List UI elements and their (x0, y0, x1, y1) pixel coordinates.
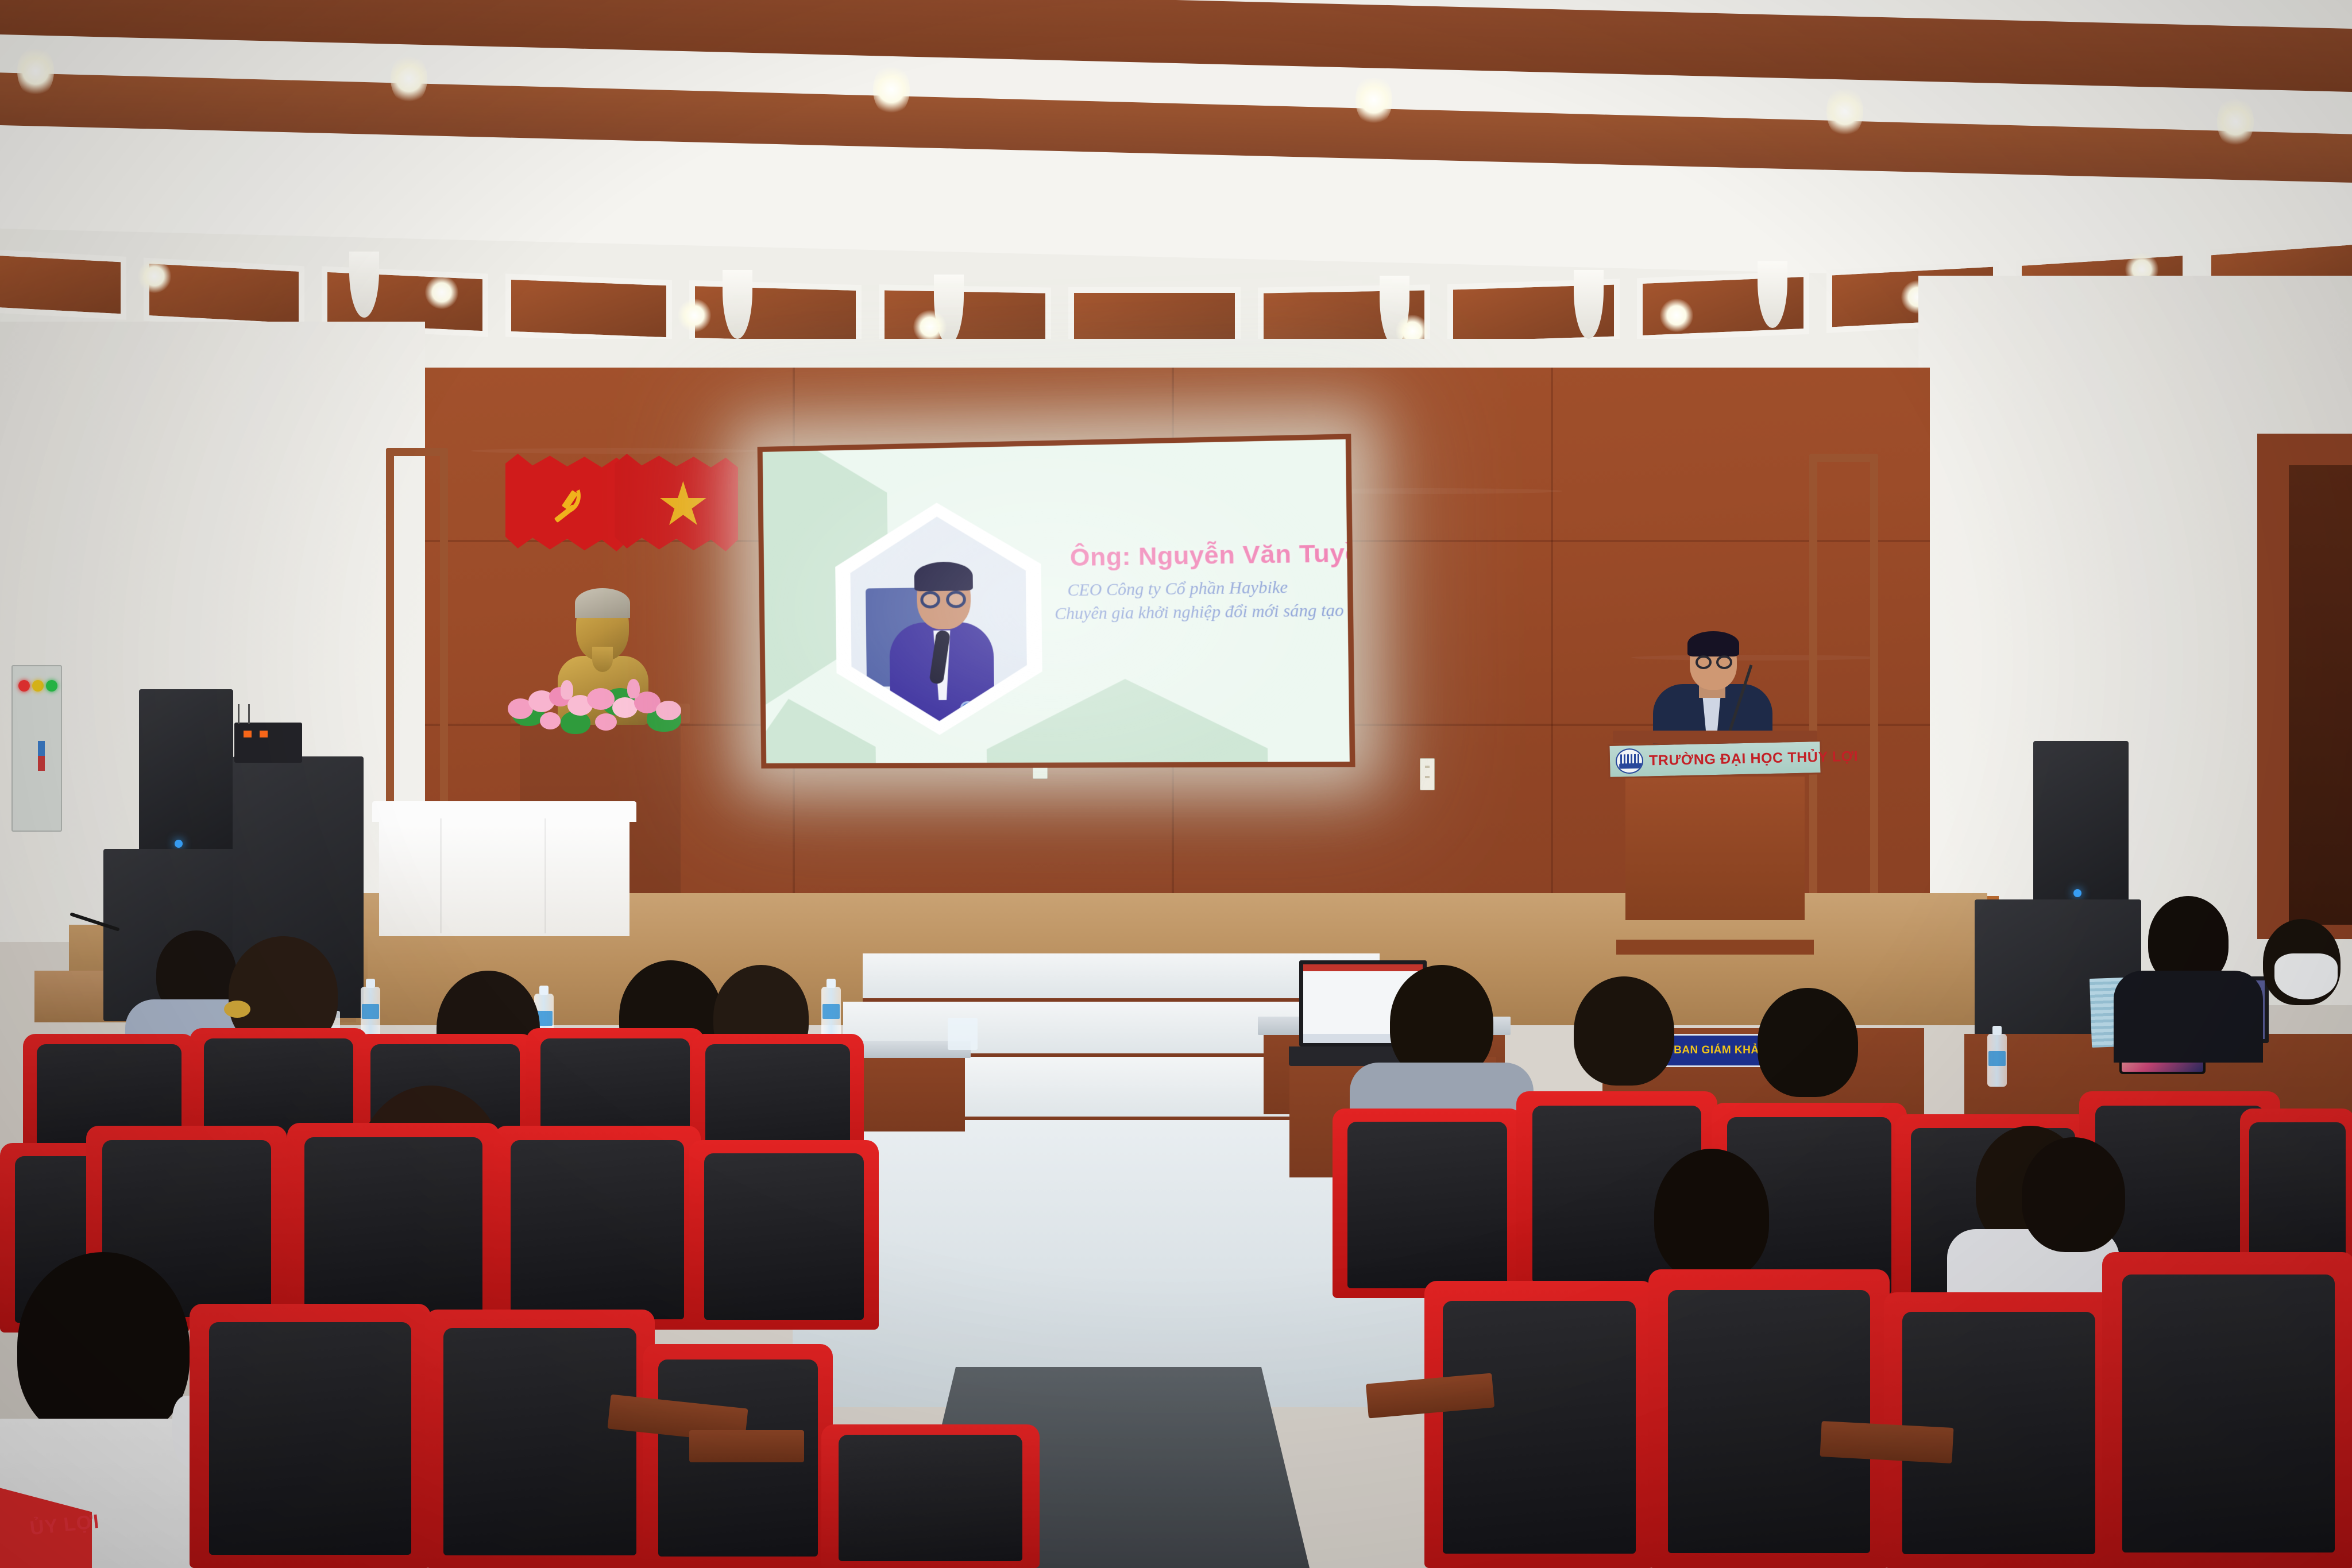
auditorium-seat[interactable] (190, 1304, 431, 1568)
indicator-light-green (46, 680, 57, 692)
presentation-slide: Ông: Nguyễn Văn Tuyền CEO Công ty Cổ phầ… (763, 439, 1350, 763)
university-logo-icon (1616, 748, 1644, 774)
electrical-panel[interactable] (11, 665, 62, 832)
auditorium-seat[interactable] (287, 1123, 500, 1330)
podium: TRƯỜNG ĐẠI HỌC THỦY LỢI (1608, 731, 1821, 955)
pa-speaker-top-right (2033, 741, 2129, 903)
auditorium-seat[interactable] (1648, 1269, 1890, 1568)
audience-head (1574, 976, 1674, 1086)
pa-speaker-top-left (139, 689, 233, 853)
audience-head (1654, 1149, 1769, 1281)
judges-panel-sign-text: BAN GIÁM KHẢO (1674, 1044, 1768, 1057)
auditorium-seat[interactable] (2102, 1252, 2352, 1568)
downlight (1355, 74, 1392, 126)
vietnam-flag (615, 454, 738, 551)
drinking-glass[interactable] (948, 1018, 978, 1050)
audience-head (17, 1252, 190, 1442)
downlight (1826, 85, 1863, 138)
antenna (238, 704, 240, 724)
hammer-sickle-icon (547, 481, 589, 527)
slide-speaker-name: Ông: Nguyễn Văn Tuyền (1070, 539, 1354, 573)
slide-speaker-role-1: CEO Công ty Cổ phần Haybike (1067, 577, 1351, 600)
indicator-light-yellow (32, 680, 44, 692)
audience-shoulders-suit (2114, 971, 2263, 1063)
speaker-power-led (175, 840, 183, 848)
conference-hall-photo: Ông: Nguyễn Văn Tuyền CEO Công ty Cổ phầ… (0, 0, 2352, 1568)
flag-display (505, 454, 752, 580)
mixer-rack (234, 723, 302, 763)
mixer-led (244, 731, 252, 737)
draped-table (372, 801, 636, 936)
audience-head (1758, 988, 1858, 1097)
downlight (17, 45, 54, 98)
indicator-light-red (18, 680, 30, 692)
projection-screen: Ông: Nguyễn Văn Tuyền CEO Công ty Cổ phầ… (758, 434, 1355, 768)
downlight (138, 260, 171, 293)
downlight (873, 63, 910, 116)
slide-decoration-corner-bottom-left (758, 698, 876, 768)
communist-party-flag (505, 454, 629, 551)
auditorium-seat[interactable] (689, 1140, 879, 1330)
audience-head (2022, 1137, 2125, 1252)
slide-decoration-chevron-bottom (986, 678, 1268, 768)
door-panel[interactable] (2289, 465, 2352, 925)
face-mask (2274, 953, 2338, 999)
gold-star-icon (659, 481, 707, 530)
wall-outlet (1420, 758, 1435, 790)
auditorium-seat[interactable] (1333, 1109, 1522, 1298)
downlight (391, 53, 427, 105)
antenna (248, 704, 250, 724)
downlight (678, 299, 711, 332)
auditorium-seat[interactable] (425, 1310, 655, 1568)
slide-speaker-role-2: Chuyên gia khởi nghiệp đổi mới sáng tạo (1055, 601, 1355, 624)
auditorium-seat[interactable] (494, 1126, 701, 1330)
podium-sign: TRƯỜNG ĐẠI HỌC THỦY LỢI (1608, 740, 1822, 779)
seat-writing-tablet[interactable] (689, 1430, 804, 1462)
lotus-flower-arrangement (505, 678, 695, 741)
water-bottle[interactable] (821, 987, 841, 1040)
downlight (2217, 95, 2254, 148)
hair-tie (224, 1001, 250, 1018)
water-bottle[interactable] (1987, 1034, 2007, 1087)
downlight (1660, 299, 1693, 332)
speaker-power-led (2073, 889, 2081, 897)
downlight (425, 276, 458, 309)
mixer-led (260, 731, 268, 737)
laptop-titlebar (1303, 964, 1423, 971)
seat-writing-tablet[interactable] (1820, 1421, 1954, 1463)
auditorium-seat[interactable] (1424, 1281, 1654, 1568)
